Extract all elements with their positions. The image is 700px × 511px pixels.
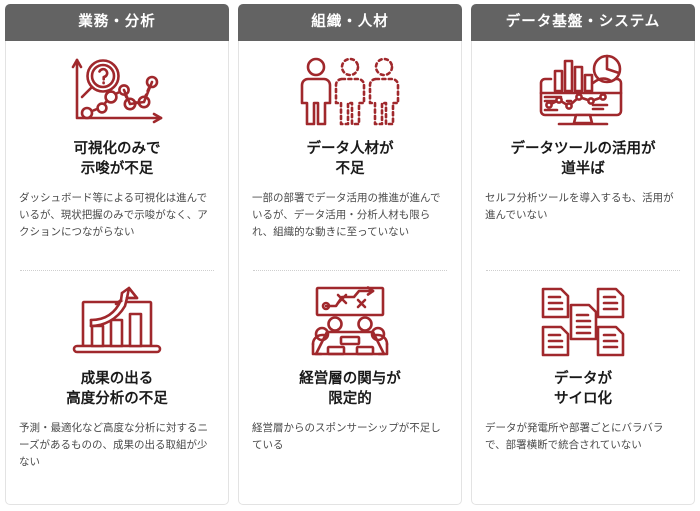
- column-body-soshiki-jinzai: データ人材が 不足 一部の部署でデータ活用の推進が進んでいるが、データ活用・分析…: [238, 41, 462, 505]
- column-body-data-kiban-system: データツールの活用が 道半ば セルフ分析ツールを導入するも、活用が進んでいない: [471, 41, 695, 505]
- chart-magnifier-question-icon: [19, 51, 215, 133]
- column-header-gyomu-bunseki: 業務・分析: [5, 4, 229, 41]
- issue-title: 成果の出る 高度分析の不足: [66, 369, 168, 409]
- column-header-data-kiban-system: データ基盤・システム: [471, 4, 695, 41]
- issue-card[interactable]: 経営層の関与が 限定的 経営層からのスポンサーシップが不足している: [239, 271, 461, 500]
- issue-card[interactable]: データ人材が 不足 一部の部署でデータ活用の推進が進んでいるが、データ活用・分析…: [239, 41, 461, 270]
- issue-description: データが発電所や部署ごとにバラバラで、部署横断で統合されていない: [485, 420, 681, 454]
- issue-description: ダッシュボード等による可視化は進んでいるが、現状把握のみで示唆がなく、アクション…: [19, 190, 215, 241]
- issue-title: データ人材が 不足: [307, 139, 394, 179]
- issue-description: 経営層からのスポンサーシップが不足している: [252, 420, 448, 454]
- column-data-kiban-system: データ基盤・システム: [471, 4, 695, 505]
- issue-description: 一部の部署でデータ活用の推進が進んでいるが、データ活用・分析人材も限られ、組織的…: [252, 190, 448, 241]
- issue-card[interactable]: 可視化のみで 示唆が不足 ダッシュボード等による可視化は進んでいるが、現状把握の…: [6, 41, 228, 270]
- issue-card[interactable]: 成果の出る 高度分析の不足 予測・最適化など高度な分析に対するニーズがあるものの…: [6, 271, 228, 500]
- column-soshiki-jinzai: 組織・人材 データ人材が 不足 一部の部署でデータ活用の推進が進んでいるが、デー…: [238, 4, 462, 505]
- column-gyomu-bunseki: 業務・分析: [5, 4, 229, 505]
- strategy-board-meeting-icon: [252, 281, 448, 363]
- issue-card[interactable]: データが サイロ化 データが発電所や部署ごとにバラバラで、部署横断で統合されてい…: [472, 271, 694, 500]
- growth-chart-arrow-icon: [19, 281, 215, 363]
- column-body-gyomu-bunseki: 可視化のみで 示唆が不足 ダッシュボード等による可視化は進んでいるが、現状把握の…: [5, 41, 229, 505]
- issue-card[interactable]: データツールの活用が 道半ば セルフ分析ツールを導入するも、活用が進んでいない: [472, 41, 694, 270]
- issue-title: データツールの活用が 道半ば: [511, 139, 656, 179]
- column-header-soshiki-jinzai: 組織・人材: [238, 4, 462, 41]
- issue-description: 予測・最適化など高度な分析に対するニーズがあるものの、成果の出る取組が少ない: [19, 420, 215, 471]
- issue-title: 経営層の関与が 限定的: [299, 369, 401, 409]
- issue-title: 可視化のみで 示唆が不足: [74, 139, 161, 179]
- issue-description: セルフ分析ツールを導入するも、活用が進んでいない: [485, 190, 681, 224]
- issues-board: 業務・分析: [0, 0, 700, 511]
- issue-title: データが サイロ化: [554, 369, 612, 409]
- three-people-dashed-icon: [252, 51, 448, 133]
- monitor-dashboard-icon: [485, 51, 681, 133]
- scattered-documents-icon: [485, 281, 681, 363]
